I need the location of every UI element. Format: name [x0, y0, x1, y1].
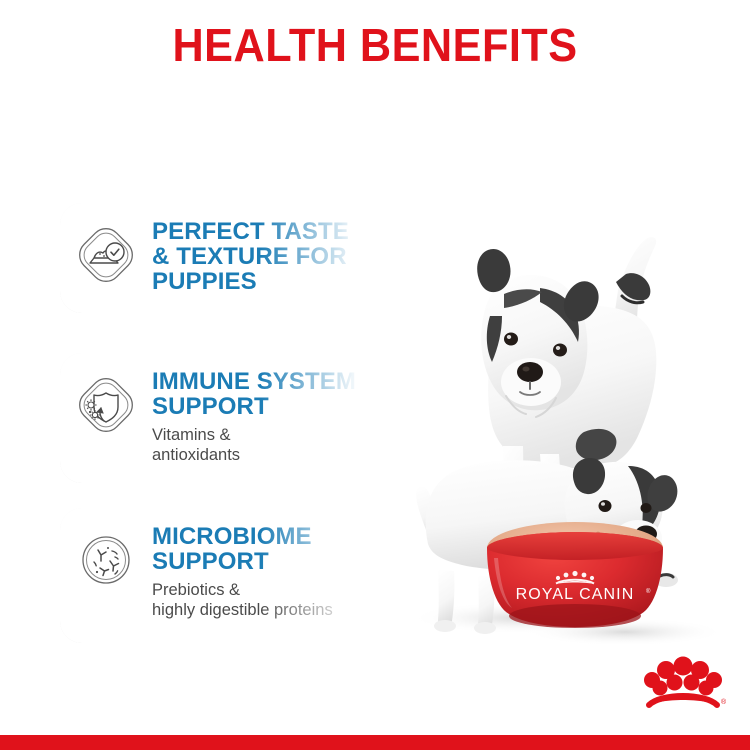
- benefit-heading: PERFECT TASTE & TEXTURE FOR PUPPIES: [152, 219, 390, 294]
- page-title: HEALTH BENEFITS: [23, 18, 728, 72]
- benefit-text-group: IMMUNE SYSTEM SUPPORT Vitamins & antioxi…: [152, 367, 390, 465]
- benefit-text-group: PERFECT TASTE & TEXTURE FOR PUPPIES: [152, 217, 390, 294]
- food-bowl: ROYAL CANIN ®: [487, 522, 663, 628]
- royal-canin-crown-logo: ®: [640, 654, 726, 716]
- svg-text:®: ®: [646, 588, 651, 595]
- benefit-subtitle: Vitamins & antioxidants: [152, 425, 390, 465]
- petri-dish-bacteria-icon: [74, 528, 138, 592]
- benefit-card-microbiome: MICROBIOME SUPPORT Prebiotics & highly d…: [60, 508, 390, 643]
- bowl-brand-text: ROYAL CANIN: [516, 586, 635, 603]
- benefit-subtitle: Prebiotics & highly digestible proteins: [152, 580, 390, 620]
- product-photo-dogs-with-bowl: ROYAL CANIN ®: [370, 110, 750, 650]
- food-bowl-check-icon: [74, 223, 138, 287]
- benefit-text-group: MICROBIOME SUPPORT Prebiotics & highly d…: [152, 522, 390, 620]
- bottom-accent-bar: [0, 735, 750, 750]
- registered-mark: ®: [721, 698, 726, 706]
- benefit-heading: MICROBIOME SUPPORT: [152, 524, 390, 574]
- benefit-heading: IMMUNE SYSTEM SUPPORT: [152, 369, 390, 419]
- health-benefits-page: HEALTH BENEFITS PERFECT TASTE & TEXTURE …: [0, 0, 750, 750]
- benefit-card-perfect-taste: PERFECT TASTE & TEXTURE FOR PUPPIES: [60, 203, 390, 313]
- benefit-card-immune-system: IMMUNE SYSTEM SUPPORT Vitamins & antioxi…: [60, 353, 390, 483]
- shield-germs-icon: [74, 373, 138, 437]
